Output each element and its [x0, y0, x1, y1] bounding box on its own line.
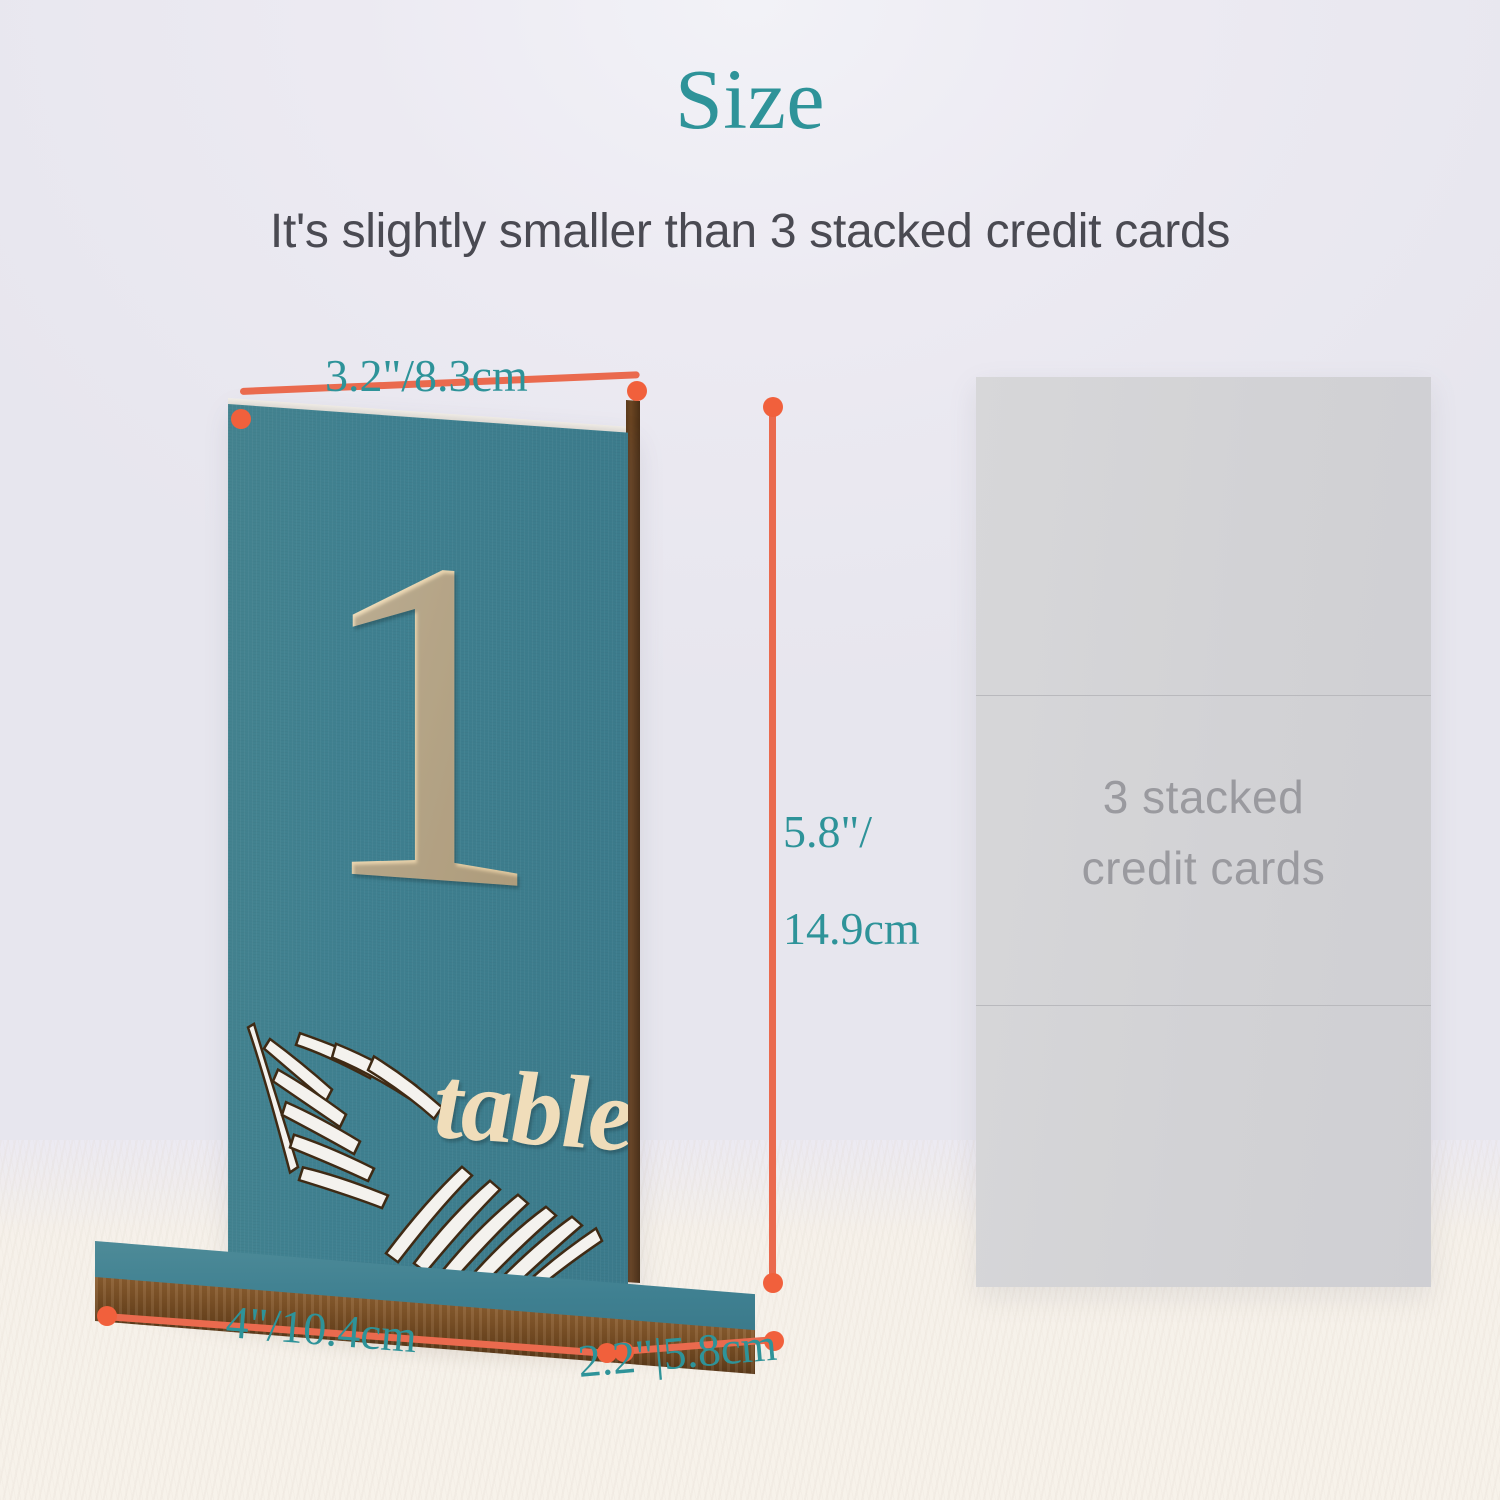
dimension-dot-top-left: [231, 409, 251, 429]
dimension-dot-height-bottom: [763, 1273, 783, 1293]
dimension-dot-bottom-left: [97, 1306, 117, 1326]
table-number-sign: 1: [0, 0, 1500, 1500]
dimension-label-width-top: 3.2"/8.3cm: [325, 352, 528, 400]
dimension-label-height-line-2: 14.9cm: [783, 905, 920, 953]
table-script-word: table: [434, 1051, 628, 1171]
sign-panel: 1: [228, 404, 628, 1309]
dimension-dot-height-top: [763, 397, 783, 417]
dimension-label-height: 5.8"/ 14.9cm: [783, 760, 920, 1001]
dimension-dot-top-right: [627, 381, 647, 401]
panel-wood-edge: [626, 400, 640, 1283]
dimension-line-height: [769, 404, 776, 1284]
table-number-numeral: 1: [228, 500, 628, 942]
infographic-canvas: Size It's slightly smaller than 3 stacke…: [0, 0, 1500, 1500]
table-number-value: 1: [311, 506, 546, 936]
dimension-label-height-line-1: 5.8"/: [783, 808, 920, 856]
